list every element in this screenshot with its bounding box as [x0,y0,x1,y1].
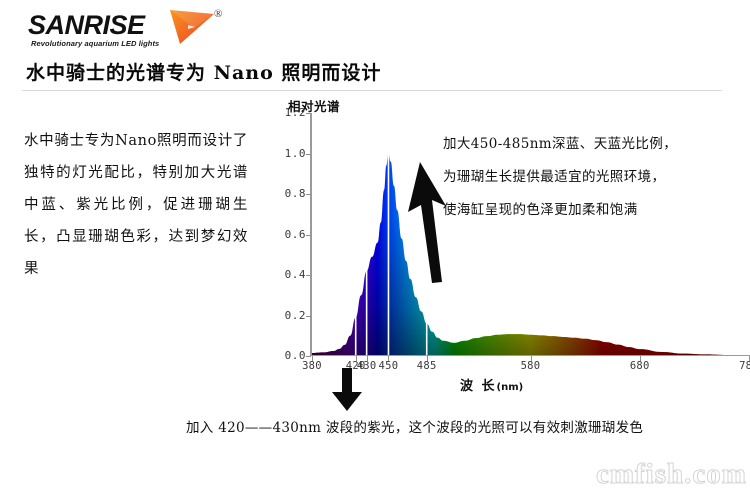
watermark: cmfish.com [596,458,747,491]
x-axis-tick-label: 380 [302,360,322,372]
slide-canvas: SANRISE Revolutionary aquarium LED light… [0,0,750,500]
x-axis-tick-label: 780 [739,360,750,372]
y-axis-tick-label: 0.8 [274,187,306,200]
spectrum-curve [312,113,749,356]
x-axis-tick-label: 450 [379,360,399,372]
y-axis-tick-mark [306,194,311,195]
left-description-text: 水中骑士专为Nano照明而设计了独特的灯光配比，特别加大光谱中蓝、紫光比例，促进… [24,125,248,285]
sanrise-arrow-icon [168,8,216,46]
x-axis-tick-label: 680 [630,360,650,372]
y-axis-tick-label: 0.6 [274,228,306,241]
x-axis-title-main: 波 长 [460,379,497,394]
y-axis-tick-mark [306,154,311,155]
x-axis-title: 波 长(nm) [460,375,523,394]
x-axis-tick-label: 485 [417,360,437,372]
y-axis-tick-label: 0.2 [274,309,306,322]
y-axis-tick-label: 1.0 [274,147,306,160]
y-axis-tick-mark [306,235,311,236]
page-title: 水中骑士的光谱专为 Nano 照明而设计 [26,58,381,85]
spectrum-chart: 相对光谱 1.21.00.80.60.40.20.0 波 长(nm) 38042… [262,96,750,396]
brand-logo: SANRISE Revolutionary aquarium LED light… [28,6,238,52]
y-axis-tick-label: 1.2 [274,106,306,119]
brand-tagline: Revolutionary aquarium LED lights [31,39,159,48]
x-axis-title-unit: (nm) [497,382,524,393]
y-axis-tick-labels: 1.21.00.80.60.40.20.0 [262,96,306,396]
y-axis-tick-mark [306,275,311,276]
bottom-annotation-text: 加入 420——430nm 波段的紫光，这个波段的光照可以有效刺激珊瑚发色 [186,412,732,444]
y-axis-tick-label: 0.4 [274,268,306,281]
x-axis-tick-label: 430 [357,360,377,372]
registered-trademark-icon: ® [214,8,222,20]
spectrum-plot-area [312,113,749,356]
y-axis-tick-mark [306,316,311,317]
brand-wordmark: SANRISE [28,12,145,39]
title-divider [22,90,722,91]
y-axis-tick-mark [306,356,311,357]
y-axis-tick-mark [306,113,311,114]
x-axis-tick-label: 580 [521,360,541,372]
